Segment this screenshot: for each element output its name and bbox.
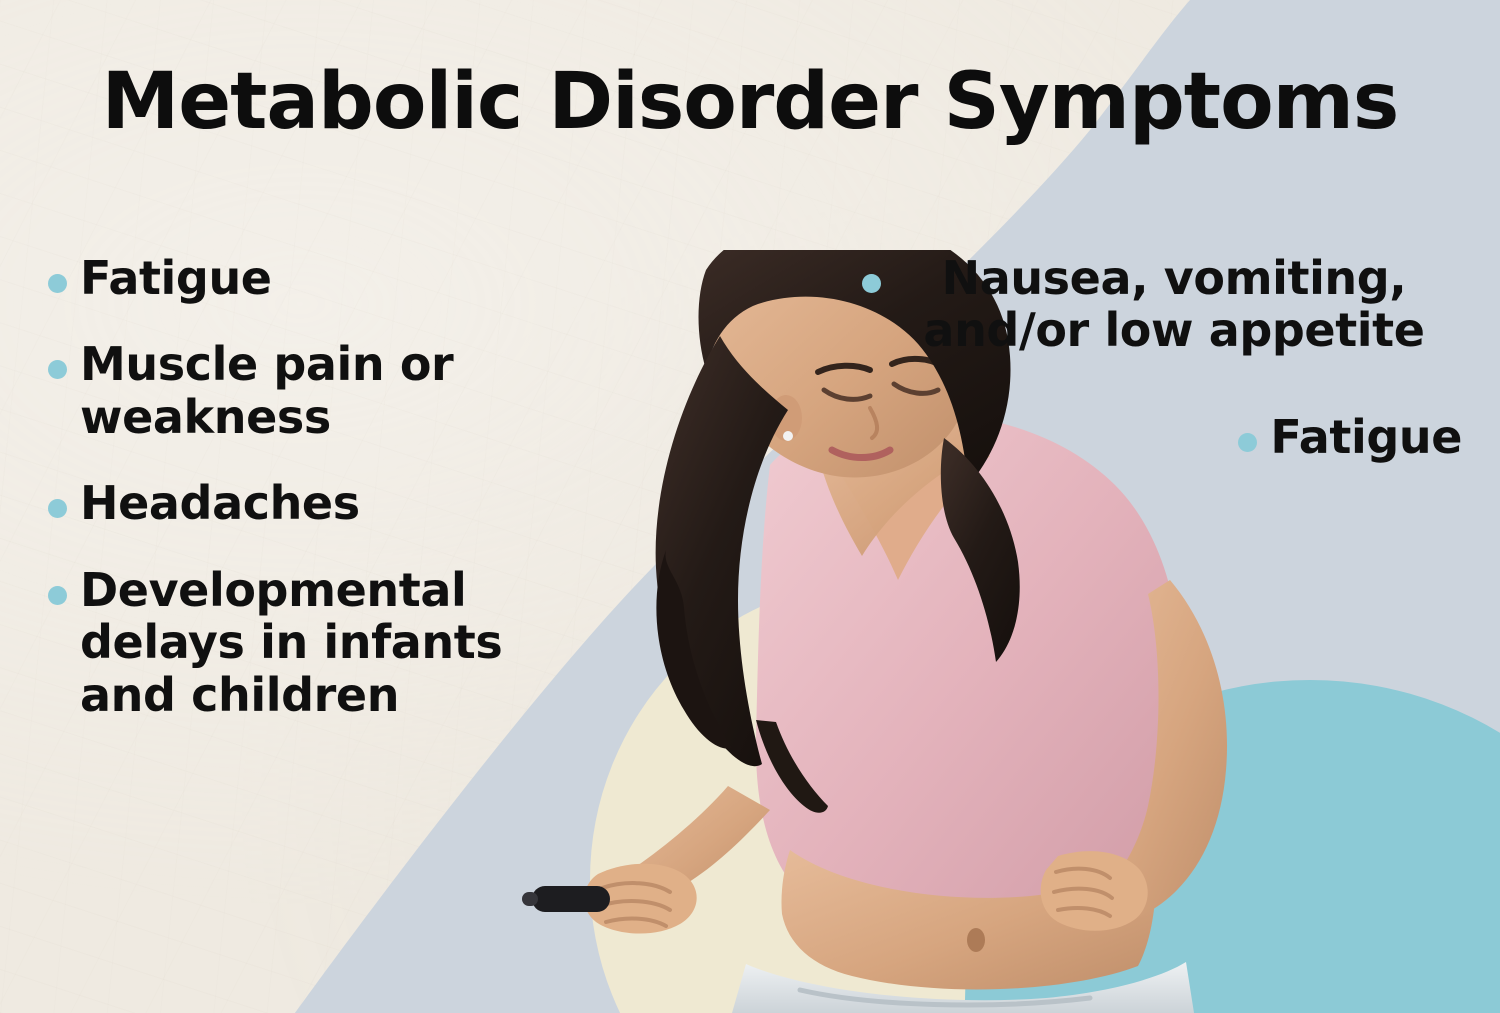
symptom-label: Muscle pain or weakness xyxy=(80,338,550,443)
symptom-list-left: Fatigue Muscle pain or weakness Headache… xyxy=(48,252,558,755)
bullet-dot-icon xyxy=(862,274,881,293)
symptom-label: Fatigue xyxy=(80,252,272,304)
list-item: Fatigue xyxy=(862,411,1462,463)
infographic-canvas: Metabolic Disorder Symptoms Fatigue Musc… xyxy=(0,0,1500,1013)
symptom-list-right: Nausea, vomiting, and/or low appetite Fa… xyxy=(862,252,1462,517)
list-item: Fatigue xyxy=(48,252,558,304)
bullet-dot-icon xyxy=(48,360,67,379)
earring xyxy=(783,431,793,441)
bullet-dot-icon xyxy=(48,499,67,518)
list-item: Nausea, vomiting, and/or low appetite xyxy=(862,252,1462,357)
bullet-dot-icon xyxy=(48,274,67,293)
insulin-pen xyxy=(532,886,610,912)
list-item: Headaches xyxy=(48,477,558,529)
insulin-pen-tip xyxy=(522,892,538,906)
symptom-label: Nausea, vomiting, and/or low appetite xyxy=(894,252,1454,357)
list-item: Muscle pain or weakness xyxy=(48,338,558,443)
navel xyxy=(967,928,985,952)
list-item: Developmental delays in infants and chil… xyxy=(48,564,558,721)
symptom-label: Headaches xyxy=(80,477,360,529)
symptom-label: Developmental delays in infants and chil… xyxy=(80,564,550,721)
bullet-dot-icon xyxy=(1238,433,1257,452)
bullet-dot-icon xyxy=(48,586,67,605)
page-title: Metabolic Disorder Symptoms xyxy=(0,62,1500,144)
symptom-label: Fatigue xyxy=(1270,411,1462,463)
